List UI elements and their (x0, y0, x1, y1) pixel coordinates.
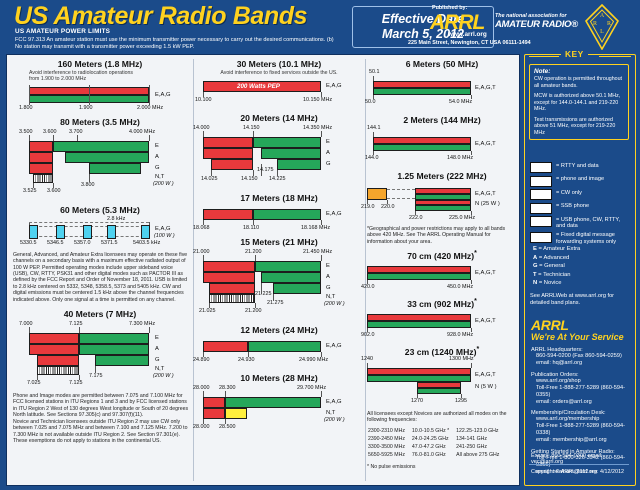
freq-label: 3.525 (23, 188, 37, 194)
license-classes: E (326, 139, 330, 145)
contact-line[interactable]: email: hq@arrl.org (531, 360, 633, 367)
license-classes: N,T (326, 410, 335, 416)
license-classes: G (155, 165, 160, 171)
swatch-cw-icon (530, 189, 552, 200)
freq-label: 10.100 (195, 97, 212, 103)
segment-rtty (203, 341, 248, 352)
freq-label: 7.000 (19, 321, 33, 327)
freq-label: 18.168 MHz (301, 225, 330, 231)
band-title: 80 Meters (3.5 MHz) (7, 117, 193, 127)
power-limits-heading: US AMATEUR POWER LIMITS (15, 28, 110, 35)
freq-label: 7.125 (69, 380, 83, 386)
freq-label: 28.000 (193, 424, 210, 430)
key-swatch-row: = USB phone, CW, RTTY, and data (530, 216, 628, 229)
no-pulse-note: * No pulse emissions (367, 464, 517, 470)
note-paragraph: Test transmissions are authorized above … (534, 117, 624, 137)
band-title: 17 Meters (18 MHz) (193, 193, 365, 203)
segment-phone (373, 88, 471, 95)
freq-label: 21.000 (193, 249, 210, 255)
segment-cw-only (37, 366, 79, 375)
license-classes: N,T (155, 174, 164, 180)
segment-phone (261, 148, 321, 159)
freq-label: 1.900 (79, 105, 93, 111)
freq-label: 3.600 (43, 129, 57, 135)
band-33cm: 33 cm (902 MHz)* E,A,G,T 902.0 928.0 MHz (365, 298, 519, 340)
band-10m: 10 Meters (28 MHz) 28.000 28.300 29.700 … (193, 373, 365, 437)
segment-rtty (203, 408, 225, 419)
freq-label: 21.275 (267, 300, 284, 306)
freq-label: 5403.5 kHz (133, 240, 160, 246)
segment-phone (79, 333, 149, 344)
segment-rtty (203, 397, 225, 408)
license-classes: A (326, 274, 330, 280)
freq-label: 28.500 (219, 424, 236, 430)
license-classes: N,T (326, 294, 335, 300)
segment-usb-channel (107, 225, 116, 239)
key-swatch-row: = CW only (530, 189, 628, 200)
freq-label: 14.025 (201, 176, 218, 182)
power-limit: (200 W ) (324, 301, 345, 307)
freq-label: 7.300 MHz (129, 321, 155, 327)
contact-line[interactable]: email: membership@arrl.org (531, 437, 633, 444)
band-20m: 20 Meters (14 MHz) 14.000 14.150 14.350 … (193, 113, 365, 191)
band-title: 1.25 Meters (222 MHz) (365, 171, 519, 181)
swatch-label: = CW only (556, 189, 582, 196)
freq-label: 7.125 (69, 321, 83, 327)
segment-phone (261, 272, 321, 283)
freq-label: 5371.5 (101, 240, 118, 246)
license-classes: A (155, 346, 159, 352)
freq-label: 144.0 (365, 155, 379, 161)
see-arrlweb-note[interactable]: See ARRLWeb at www.arrl.org for detailed… (530, 293, 632, 307)
segment-phone (95, 355, 149, 366)
license-classes: E (155, 143, 159, 149)
note-paragraph: MCW is authorized above 50.1 MHz, except… (534, 93, 624, 113)
band-title-text: 70 cm (420 MHz) (407, 251, 474, 261)
segment-usb-channel (141, 225, 150, 239)
freq-label: 3.800 (81, 182, 95, 188)
segment-fixed-digital (367, 188, 387, 200)
table-row: 5650-5925 MHz 76.0-81.0 GHz All above 27… (367, 451, 500, 459)
freq-label: 902.0 (361, 332, 375, 338)
license-classes: A (155, 154, 159, 160)
freq-label: 7.025 (27, 380, 41, 386)
key-swatch-row: = SSB phone (530, 203, 628, 214)
freq-label: 5357.0 (74, 240, 91, 246)
above-uhf-allocations: All licensees except Novices are authori… (367, 411, 517, 470)
freq-label: 28.000 (193, 385, 210, 391)
swatch-rtty-icon (530, 162, 552, 173)
freq-label: 1.800 (19, 105, 33, 111)
freq-label: 148.0 MHz (447, 155, 473, 161)
band-title: 10 Meters (28 MHz) (193, 373, 365, 383)
segment-ssb (225, 408, 247, 419)
band-note: Avoid interference to radiolocation oper… (29, 70, 193, 83)
segment-usb-channel (29, 225, 38, 239)
swatch-label: = RTTY and data (556, 162, 599, 169)
license-classes: E (155, 335, 159, 341)
note-paragraph: CW operation is permitted throughout all… (534, 76, 624, 89)
key-swatch-row: = phone and image (530, 176, 628, 187)
freq-label: 144.1 (367, 125, 381, 131)
segment-rtty (203, 137, 253, 148)
freq-label: 21.200 (245, 249, 262, 255)
license-classes: A (326, 150, 330, 156)
freq-label: 10.150 MHz (303, 97, 332, 103)
segment-rtty (367, 314, 471, 321)
freq-label: 225.0 MHz (449, 215, 475, 221)
segment-rtty (373, 81, 471, 88)
swatch-ssb-icon (530, 203, 552, 214)
freq-label: 5346.5 (47, 240, 64, 246)
freq-label: 21.450 MHz (303, 249, 332, 255)
segment-rtty (203, 272, 255, 283)
class-row: E = Amateur Extra (533, 245, 629, 254)
segment-phone (277, 159, 321, 170)
segment-rtty (203, 209, 253, 220)
freq-label: 4.000 MHz (129, 129, 155, 135)
freq-label: 450.0 MHz (447, 284, 473, 290)
freq-label: 3.700 (69, 129, 83, 135)
license-classes: E,A,G (155, 226, 170, 232)
segment-rtty (37, 355, 79, 366)
freq-label: 18.068 (193, 225, 210, 231)
band-title: 2 Meters (144 MHz) (365, 115, 519, 125)
license-classes: N,T (155, 366, 164, 372)
band-70cm: 70 cm (420 MHz)* E,A,G,T 420.0 450.0 MHz (365, 250, 519, 292)
band-title: 33 cm (902 MHz)* (365, 298, 519, 309)
freq-label: 928.0 MHz (447, 332, 473, 338)
license-classes: E,A,G,T (475, 191, 496, 197)
segment-cw-only (33, 174, 53, 183)
band-60m: 60 Meters (5.3 MHz) 2.8 kHz E,A,G (100 W… (7, 205, 193, 303)
license-classes: E,A,G,T (475, 372, 496, 378)
band-title: 12 Meters (24 MHz) (193, 325, 365, 335)
freq-label: 1270 (411, 398, 423, 404)
band-2m: 2 Meters (144 MHz) 144.1 E,A,G,T 144.0 1… (365, 115, 519, 163)
band-80m: 80 Meters (3.5 MHz) 3.500 3.600 3.700 4.… (7, 117, 193, 203)
svg-text:R: R (593, 21, 597, 27)
segment-rtty (367, 368, 471, 375)
key-panel: KEY Note: CW operation is permitted thro… (524, 54, 636, 486)
table-row: 2390-2450 MHz 24.0-24.25 GHz 134-141 GHz (367, 435, 500, 443)
segment-phone (65, 152, 149, 163)
freq-label: 54.0 MHz (449, 99, 472, 105)
freq-label: 28.300 (219, 385, 236, 391)
freq-label: 24.990 MHz (299, 357, 328, 363)
freq-label: 220.0 (381, 204, 395, 210)
license-classes: E,A,G,T (475, 141, 496, 147)
segment-usb-channel (83, 225, 92, 239)
power-limit: (200 W ) (324, 417, 345, 423)
freq-label: 219.0 (361, 204, 375, 210)
freq-label: 3.500 (19, 129, 33, 135)
power-limit: (100 W ) (154, 233, 175, 239)
segment-phone (367, 273, 471, 280)
arrl-service-logo: ARRL (531, 317, 569, 333)
band-title-text: 33 cm (902 MHz) (407, 299, 474, 309)
swatch-label: = SSB phone (556, 203, 589, 210)
license-classes: E,A,G,T (475, 85, 496, 91)
license-classes: E,A,G,T (475, 270, 496, 276)
poster-root: US Amateur Radio Bands US AMATEUR POWER … (0, 0, 640, 490)
segment-phone (367, 321, 471, 328)
swatch-phone-icon (530, 176, 552, 187)
key-swatches: = RTTY and data = phone and image = CW o… (530, 162, 628, 248)
freq-label: 14.175 (257, 167, 274, 173)
swatch-label: = phone and image (556, 176, 604, 183)
segment-phone-novice (415, 205, 471, 211)
segment-rtty (209, 283, 255, 294)
segment-rtty (29, 344, 79, 355)
contact-line: Toll-Free 1-888-277-5289 (860-594-0338) (531, 423, 633, 437)
contact-line: Toll-Free 1-888-277-5289 (860-594-0355) (531, 385, 633, 399)
segment-phone-novice (417, 388, 461, 394)
band-title: 6 Meters (50 MHz) (365, 59, 519, 69)
key-swatch-row: = Fixed digital message forwarding syste… (530, 232, 628, 245)
segment-phone (79, 344, 149, 355)
license-classes: E,A,G,T (475, 318, 496, 324)
license-classes: E,A,G (326, 343, 341, 349)
segment-phone (225, 397, 321, 408)
band-column-vhf-uhf: 6 Meters (50 MHz) 50.1 E,A,G,T 50.0 54.0… (365, 55, 519, 470)
contact-group: Membership/Circulation Desk: www.arrl.or… (531, 410, 633, 444)
license-classes: E,A,G (326, 83, 341, 89)
contact-group: ARRL Headquarters: 860-594-0200 (Fax 860… (531, 347, 633, 367)
segment-phone (273, 283, 321, 294)
note-heading: Note: (534, 68, 624, 75)
segment-phone (53, 141, 149, 152)
segment-phone (253, 209, 321, 220)
star-footnote: *Geographical and power restrictions may… (367, 226, 513, 245)
band-title: 160 Meters (1.8 MHz) (7, 59, 193, 69)
segment-phone (248, 341, 321, 352)
swatch-usb-icon (530, 216, 552, 227)
band-6m: 6 Meters (50 MHz) 50.1 E,A,G,T 50.0 54.0… (365, 59, 519, 107)
band-23cm: 23 cm (1240 MHz)* 1240 1300 MHz E,A,G,T … (365, 346, 519, 407)
contact-group: Publication Orders: www.arrl.org/shop To… (531, 372, 633, 406)
segment-phone (255, 261, 321, 272)
freq-label: 50.1 (369, 69, 380, 75)
freq-label: 21.200 (245, 308, 262, 314)
license-classes: G (155, 357, 160, 363)
segment-phone (373, 144, 471, 151)
band-title: 30 Meters (10.1 MHz) (193, 59, 365, 69)
power-limits-text: FCC 97.313 An amateur station must use t… (15, 37, 335, 51)
class-row: N = Novice (533, 279, 629, 288)
page-title: US Amateur Radio Bands (14, 2, 307, 31)
key-title: KEY (561, 49, 588, 59)
freq-label: 3.600 (47, 188, 61, 194)
segment-rtty (211, 159, 253, 170)
arrl-tagline-big: AMATEUR RADIO® (495, 19, 578, 30)
freq-label: 14.225 (269, 176, 286, 182)
class-row: G = General (533, 262, 629, 271)
band-40m: 40 Meters (7 MHz) 7.000 7.125 7.300 MHz … (7, 309, 193, 444)
svg-text:L: L (600, 29, 604, 35)
table-row: 2300-2310 MHz 10.0-10.5 GHz * 122.25-123… (367, 427, 500, 435)
license-classes: E (326, 263, 330, 269)
band-17m: 17 Meters (18 MHz) E,A,G 18.068 18.110 1… (193, 193, 365, 231)
band-paragraph: General, Advanced, and Amateur Extra lic… (13, 252, 189, 303)
freq-label: 18.110 (243, 225, 259, 231)
freq-label: 24.930 (238, 357, 255, 363)
arrl-diamond-icon: A R R L (585, 4, 619, 50)
segment-rtty (29, 141, 53, 152)
novice-power: N (25 W ) (475, 201, 500, 207)
freq-label: 50.0 (365, 99, 376, 105)
class-row: T = Technician (533, 271, 629, 280)
above-uhf-header: All licensees except Novices are authori… (367, 411, 517, 424)
freq-label: 21.025 (199, 308, 216, 314)
band-title: 70 cm (420 MHz)* (365, 250, 519, 261)
band-12m: 12 Meters (24 MHz) E,A,G 24.890 24.930 2… (193, 325, 365, 363)
class-row: A = Advanced (533, 254, 629, 263)
svg-text:R: R (607, 21, 611, 27)
band-title: 60 Meters (5.3 MHz) (7, 205, 193, 215)
license-classes: G (326, 161, 331, 167)
freq-label: 420.0 (361, 284, 375, 290)
license-classes: G (326, 285, 331, 291)
copyright-line: Copyright © ARRL 2012 rev. 4/12/2012 (531, 469, 624, 475)
freq-label: 14.150 (241, 176, 258, 182)
band-title: 23 cm (1240 MHz)* (365, 346, 519, 357)
contact-line: 860-594-0200 (Fax 860-594-0259) (531, 353, 633, 360)
swatch-label: = Fixed digital message forwarding syste… (556, 232, 616, 245)
contact-line[interactable]: www.arrl.org/shop (531, 378, 633, 385)
band-title: 15 Meters (21 MHz) (193, 237, 365, 247)
band-column-hf-high: 30 Meters (10.1 MHz) Avoid interference … (193, 55, 365, 437)
above-uhf-table: 2300-2310 MHz 10.0-10.5 GHz * 122.25-123… (367, 427, 500, 459)
bands-panel: 160 Meters (1.8 MHz) Avoid interference … (6, 54, 520, 486)
freq-label: 1295 (455, 398, 467, 404)
segment-rtty (373, 137, 471, 144)
arrl-service-sub: We're At Your Service (531, 332, 624, 342)
key-swatch-row: = RTTY and data (530, 162, 628, 173)
swatch-label: = USB phone, CW, RTTY, and data (556, 216, 620, 229)
band-column-hf-low: 160 Meters (1.8 MHz) Avoid interference … (7, 55, 193, 444)
segment-rtty (29, 333, 79, 344)
band-title: 20 Meters (14 MHz) (193, 113, 365, 123)
swatch-fixed-digital-icon (530, 232, 552, 243)
segment-phone (253, 137, 321, 148)
band-title: 40 Meters (7 MHz) (7, 309, 193, 319)
license-classes: E,A,G (155, 92, 170, 98)
band-125cm: 1.25 Meters (222 MHz) E,A,G,T N (25 W ) … (365, 171, 519, 224)
segment-rtty (29, 163, 53, 174)
segment-usb-channel (56, 225, 65, 239)
key-note-box: Note: CW operation is permitted througho… (529, 64, 629, 140)
freq-label: 14.350 MHz (303, 125, 332, 131)
novice-power: N (5 W ) (475, 384, 497, 390)
license-classes: E,A,G (326, 211, 341, 217)
key-license-classes: E = Amateur Extra A = Advanced G = Gener… (533, 245, 629, 288)
freq-label: 7.175 (89, 373, 103, 379)
license-classes: E,A,G (326, 399, 341, 405)
freq-label: 2.000 MHz (137, 105, 163, 111)
segment-rtty (203, 261, 255, 272)
contact-line[interactable]: www.arrl.org/membership (531, 416, 633, 423)
table-row: 3300-3500 MHz 47.0-47.2 GHz 241-250 GHz (367, 443, 500, 451)
segment-rtty (29, 152, 53, 163)
freq-label: 21.225 (255, 291, 272, 297)
poster-header: US Amateur Radio Bands US AMATEUR POWER … (0, 0, 640, 52)
band-note: Avoid interference to fixed services out… (193, 70, 365, 76)
freq-label: 14.000 (193, 125, 210, 131)
segment-cw-only (209, 294, 255, 303)
arrl-address: 225 Main Street, Newington, CT USA 06111… (408, 40, 531, 46)
pep-label: 200 Watts PEP (237, 83, 280, 90)
freq-label: 222.0 (409, 215, 423, 221)
segment-rtty (203, 148, 253, 159)
arrl-website[interactable]: www.arrl.org (448, 31, 487, 38)
segment-rtty (367, 266, 471, 273)
freq-label: 1300 MHz (449, 356, 474, 362)
segment-phone (367, 375, 471, 382)
contact-line[interactable]: email: orders@arrl.org (531, 399, 633, 406)
svg-text:A: A (600, 13, 605, 19)
freq-label: 1240 (361, 356, 373, 362)
power-limit: (200 W ) (153, 181, 174, 187)
power-limit: (200 W ) (153, 373, 174, 379)
freq-label: 5330.5 (20, 240, 37, 246)
freq-label: 24.890 (193, 357, 210, 363)
band-30m: 30 Meters (10.1 MHz) Avoid interference … (193, 59, 365, 105)
band-15m: 15 Meters (21 MHz) 21.000 21.200 21.450 … (193, 237, 365, 319)
segment-phone (89, 163, 141, 174)
band-160m: 160 Meters (1.8 MHz) Avoid interference … (7, 59, 193, 111)
band-paragraph: Phone and Image modes are permitted betw… (13, 393, 189, 444)
freq-label: 14.150 (243, 125, 260, 131)
